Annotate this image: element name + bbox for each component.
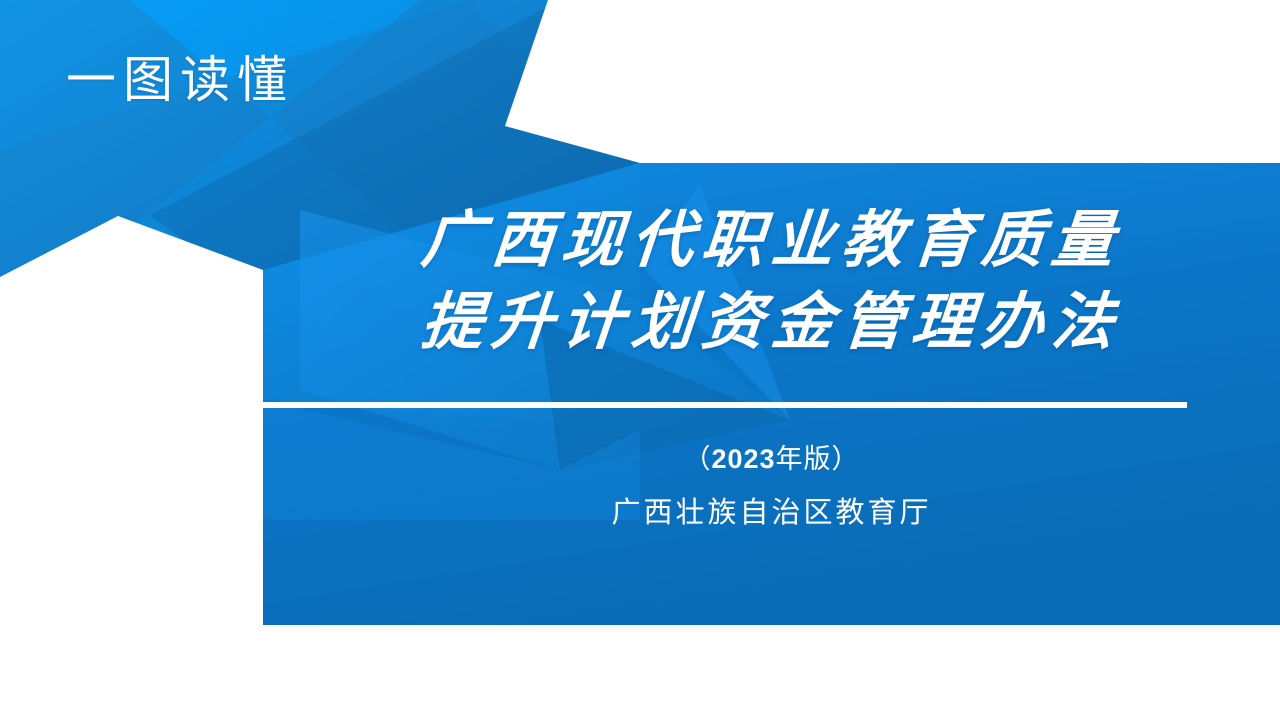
title-divider-rule — [262, 402, 1187, 408]
eyebrow-label: 一图读懂 — [66, 52, 294, 108]
edition-close-paren: ） — [832, 444, 860, 474]
title-line-2: 提升计划资金管理办法 — [259, 282, 1280, 364]
edition-year: 2023 — [711, 444, 775, 474]
edition-suffix: 年版 — [776, 444, 832, 474]
cutout-white-notch-upper-right — [505, 0, 1280, 163]
page-title: 广西现代职业教育质量 提升计划资金管理办法 — [263, 200, 1280, 364]
cutout-white-bottom-strip — [0, 625, 1280, 720]
edition-label: （2023年版） — [263, 437, 1280, 481]
title-line-1: 广西现代职业教育质量 — [259, 200, 1280, 282]
slide-canvas: 一图读懂 广西现代职业教育质量 提升计划资金管理办法 （2023年版） 广西壮族… — [0, 0, 1280, 720]
issuer-label: 广西壮族自治区教育厅 — [263, 487, 1280, 539]
edition-open-paren: （ — [683, 444, 711, 474]
subtitle-block: （2023年版） 广西壮族自治区教育厅 — [263, 437, 1280, 539]
